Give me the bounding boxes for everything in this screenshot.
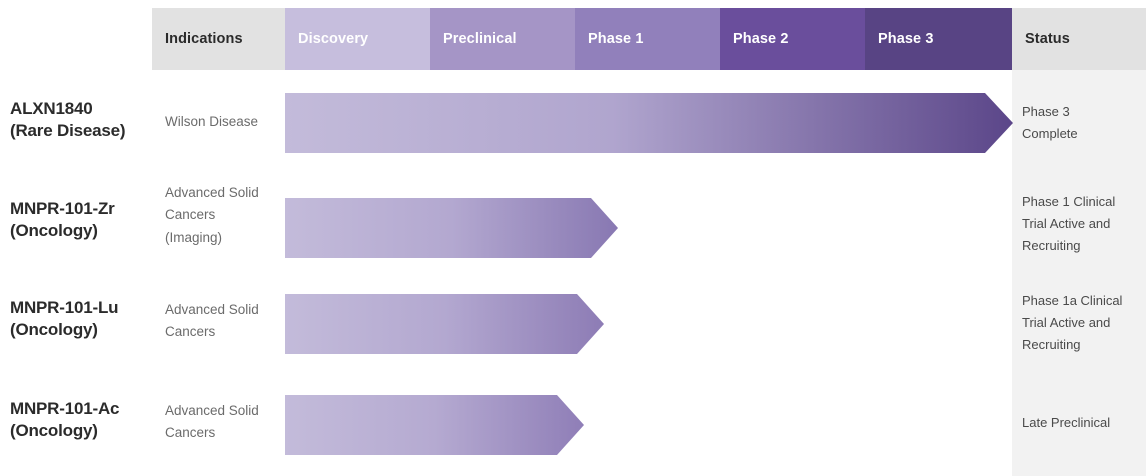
- status-text: Phase 1a Clinical Trial Active and Recru…: [1022, 290, 1138, 356]
- status-text: Phase 1 Clinical Trial Active and Recrui…: [1022, 191, 1138, 257]
- program-name-line-1: ALXN1840: [10, 98, 150, 120]
- header-phase-3: Phase 3: [865, 8, 1012, 70]
- status-text: Phase 3 Complete: [1022, 101, 1138, 145]
- status-line-1: Phase 1 Clinical: [1022, 191, 1138, 213]
- indication-line-2: Cancers: [165, 204, 280, 226]
- indication-text: Advanced Solid Cancers: [165, 299, 280, 344]
- program-name-line-2: (Oncology): [10, 420, 150, 442]
- indication-text: Advanced Solid Cancers: [165, 400, 280, 445]
- indication-line-2: Cancers: [165, 422, 280, 444]
- status-line-1: Phase 1a Clinical: [1022, 290, 1138, 312]
- header-phase-3-label: Phase 3: [878, 31, 934, 47]
- program-name: ALXN1840 (Rare Disease): [10, 98, 150, 143]
- status-line-2: Trial Active and: [1022, 312, 1138, 334]
- header-status: Status: [1012, 8, 1146, 70]
- program-name: MNPR-101-Zr (Oncology): [10, 198, 150, 243]
- status-line-2: Trial Active and: [1022, 213, 1138, 235]
- status-line-3: Recruiting: [1022, 235, 1138, 257]
- header-preclinical: Preclinical: [430, 8, 575, 70]
- progress-bar-arrow: [285, 395, 584, 455]
- progress-bar-arrow: [285, 294, 604, 354]
- program-name-line-1: MNPR-101-Ac: [10, 398, 150, 420]
- indication-line-1: Advanced Solid: [165, 182, 280, 204]
- progress-bar-arrow: [285, 93, 1013, 153]
- program-name-line-2: (Rare Disease): [10, 120, 150, 142]
- progress-bar-arrow: [285, 198, 618, 258]
- header-discovery-label: Discovery: [298, 31, 368, 47]
- program-name: MNPR-101-Ac (Oncology): [10, 398, 150, 443]
- indication-line-1: Advanced Solid: [165, 400, 280, 422]
- program-name-line-2: (Oncology): [10, 319, 150, 341]
- header-preclinical-label: Preclinical: [443, 31, 517, 47]
- header-phase-1: Phase 1: [575, 8, 720, 70]
- pipeline-chart: Indications Discovery Preclinical Phase …: [0, 0, 1146, 476]
- status-line-3: Recruiting: [1022, 334, 1138, 356]
- header-indications-label: Indications: [165, 31, 243, 47]
- status-line-1: Phase 3: [1022, 101, 1138, 123]
- header-discovery: Discovery: [285, 8, 430, 70]
- indication-line-1: Advanced Solid: [165, 299, 280, 321]
- indication-text: Wilson Disease: [165, 111, 280, 133]
- header-phase-1-label: Phase 1: [588, 31, 644, 47]
- program-name-line-2: (Oncology): [10, 220, 150, 242]
- indication-line-2: Cancers: [165, 321, 280, 343]
- program-name: MNPR-101-Lu (Oncology): [10, 297, 150, 342]
- pipeline-header-row: Indications Discovery Preclinical Phase …: [0, 8, 1146, 70]
- header-phase-2: Phase 2: [720, 8, 865, 70]
- status-line-1: Late Preclinical: [1022, 412, 1138, 434]
- status-text: Late Preclinical: [1022, 412, 1138, 434]
- indication-line-3: (Imaging): [165, 227, 280, 249]
- status-line-2: Complete: [1022, 123, 1138, 145]
- header-status-label: Status: [1025, 31, 1070, 47]
- indication-text: Advanced Solid Cancers (Imaging): [165, 182, 280, 249]
- program-name-line-1: MNPR-101-Lu: [10, 297, 150, 319]
- program-name-line-1: MNPR-101-Zr: [10, 198, 150, 220]
- indication-line-1: Wilson Disease: [165, 111, 280, 133]
- header-phase-2-label: Phase 2: [733, 31, 789, 47]
- header-indications: Indications: [152, 8, 285, 70]
